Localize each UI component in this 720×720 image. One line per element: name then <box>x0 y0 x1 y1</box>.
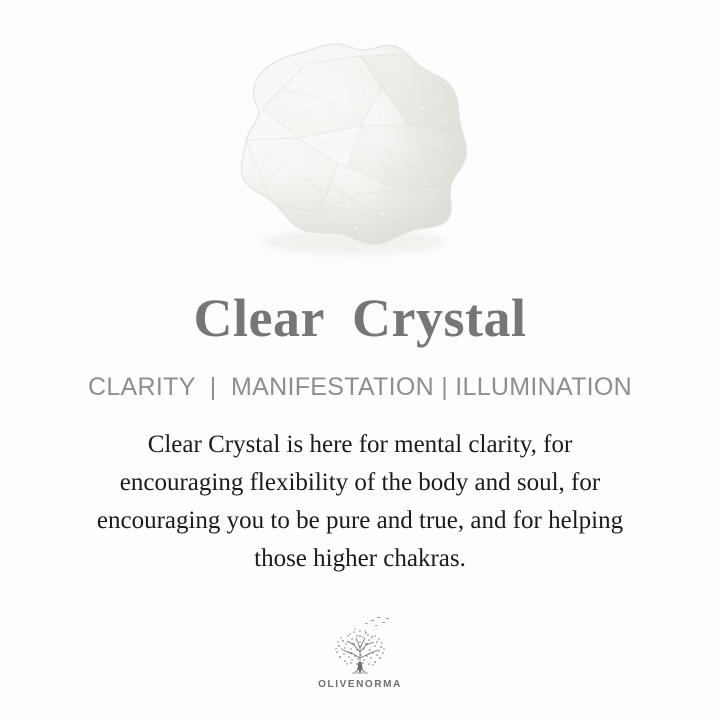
description-line: those higher chakras. <box>40 540 680 578</box>
clear-quartz-crystal-image <box>210 34 478 262</box>
page-title: Clear Crystal <box>194 288 527 350</box>
crystal-body <box>210 34 478 262</box>
brand-wordmark: OLIVENORMA <box>318 679 402 690</box>
product-keywords: CLARITY | MANIFESTATION | ILLUMINATION <box>88 372 632 402</box>
olive-tree-icon <box>321 612 399 678</box>
product-description: Clear Crystal is here for mental clarity… <box>40 426 680 578</box>
brand-logo: OLIVENORMA <box>0 612 720 690</box>
description-line: encouraging flexibility of the body and … <box>40 464 680 502</box>
description-line: encouraging you to be pure and true, and… <box>40 502 680 540</box>
product-info-card: Clear Crystal CLARITY | MANIFESTATION | … <box>0 0 720 720</box>
description-line: Clear Crystal is here for mental clarity… <box>40 426 680 464</box>
crystal-image-container <box>0 0 720 288</box>
